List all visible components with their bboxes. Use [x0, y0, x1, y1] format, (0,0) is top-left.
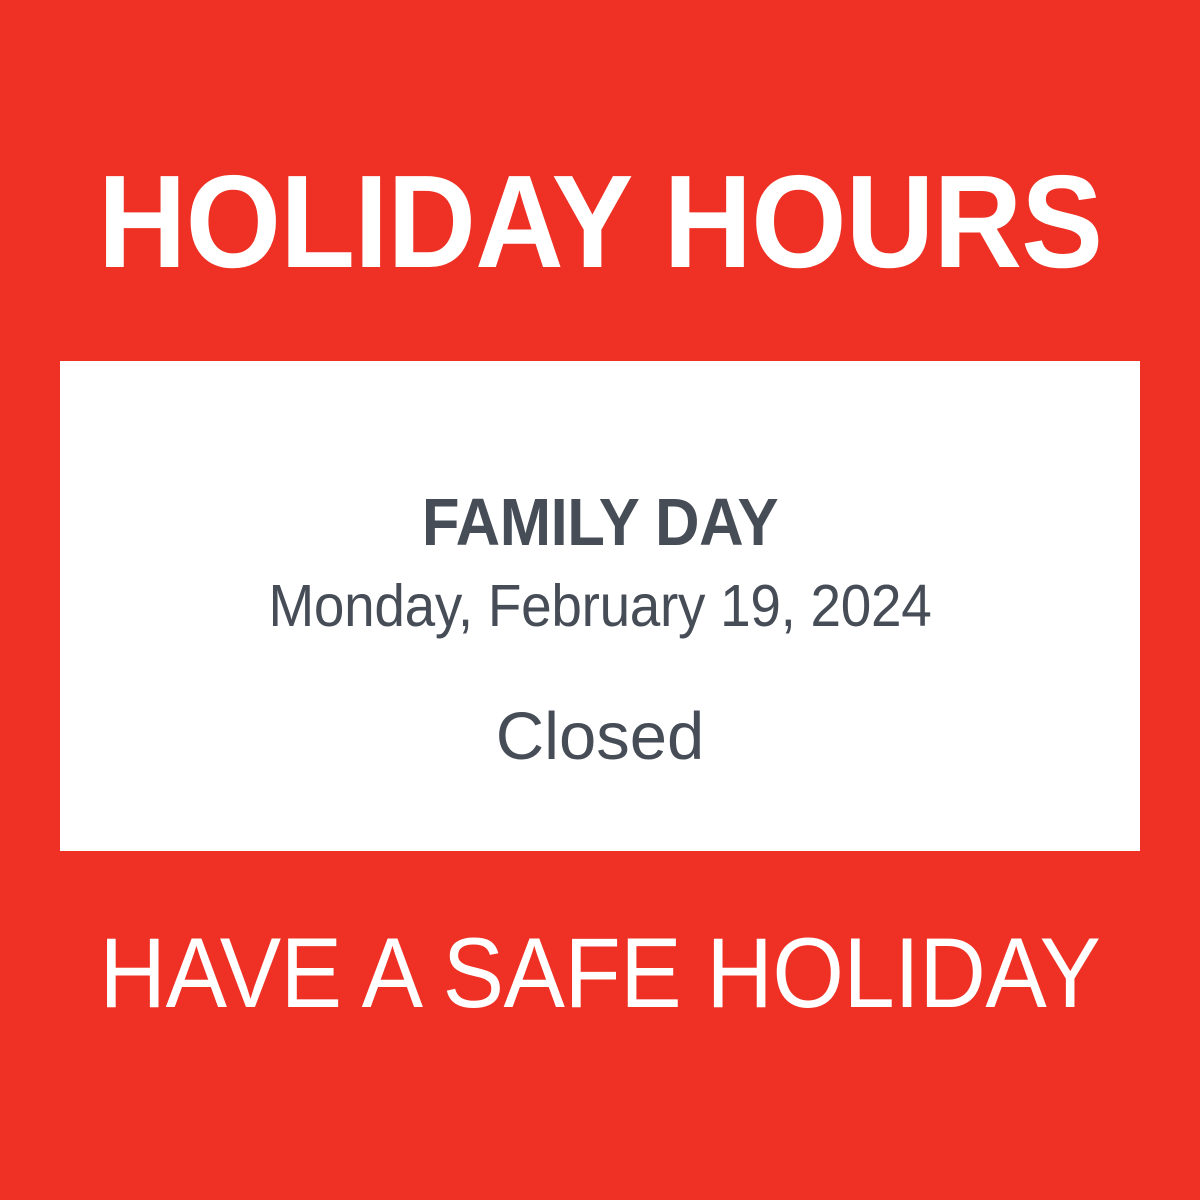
holiday-info-card: FAMILY DAY Monday, February 19, 2024 Clo… — [60, 361, 1140, 851]
holiday-info-card-body: FAMILY DAY Monday, February 19, 2024 Clo… — [60, 361, 1140, 773]
footer-message: HAVE A SAFE HOLIDAY — [42, 920, 1158, 1026]
holiday-hours-poster: HOLIDAY HOURS FAMILY DAY Monday, Februar… — [0, 0, 1200, 1200]
status-badge: Closed — [60, 639, 1140, 773]
holiday-date: Monday, February 19, 2024 — [98, 559, 1102, 639]
holiday-name: FAMILY DAY — [103, 487, 1097, 559]
page-title: HOLIDAY HOURS — [42, 152, 1158, 292]
